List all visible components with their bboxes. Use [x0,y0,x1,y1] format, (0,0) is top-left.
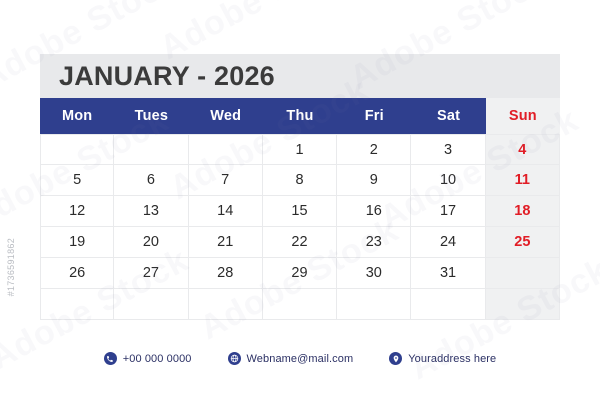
day-header-fri: Fri [337,98,411,134]
footer-contact-bar: +00 000 0000Webname@mail.comYouraddress … [40,352,560,365]
contact-text: Youraddress here [408,353,496,365]
date-cell[interactable]: 25 [486,227,560,258]
date-cell[interactable]: 22 [263,227,337,258]
contact-item-phone[interactable]: +00 000 0000 [104,352,192,365]
date-cell-empty[interactable] [114,134,188,165]
date-cell[interactable]: 9 [337,165,411,196]
location-pin-icon [389,352,402,365]
date-cell[interactable]: 4 [486,134,560,165]
day-header-sun: Sun [486,98,560,134]
calendar-grid: MonTuesWedThuFriSatSun123456789101112131… [40,98,560,320]
phone-icon [104,352,117,365]
contact-text: Webname@mail.com [247,353,354,365]
date-cell[interactable]: 24 [411,227,485,258]
watermark-asset-id: #1736591862 [6,238,16,296]
date-cell[interactable]: 14 [189,196,263,227]
date-cell[interactable]: 7 [189,165,263,196]
date-cell[interactable]: 5 [40,165,114,196]
date-cell[interactable]: 2 [337,134,411,165]
date-cell-empty[interactable] [337,289,411,320]
contact-text: +00 000 0000 [123,353,192,365]
date-cell[interactable]: 26 [40,258,114,289]
day-header-tues: Tues [114,98,188,134]
date-cell-empty[interactable] [40,289,114,320]
calendar-title-bar: JANUARY - 2026 [40,54,560,98]
date-cell[interactable]: 29 [263,258,337,289]
day-header-wed: Wed [189,98,263,134]
date-cell[interactable]: 10 [411,165,485,196]
date-cell[interactable]: 12 [40,196,114,227]
date-cell[interactable]: 17 [411,196,485,227]
calendar-card: JANUARY - 2026 MonTuesWedThuFriSatSun123… [40,54,560,320]
date-cell[interactable]: 30 [337,258,411,289]
date-cell[interactable]: 28 [189,258,263,289]
date-cell[interactable]: 3 [411,134,485,165]
date-cell[interactable]: 1 [263,134,337,165]
contact-item-location-pin[interactable]: Youraddress here [389,352,496,365]
day-header-thu: Thu [263,98,337,134]
date-cell[interactable]: 6 [114,165,188,196]
globe-icon [228,352,241,365]
date-cell[interactable]: 21 [189,227,263,258]
day-header-sat: Sat [411,98,485,134]
date-cell[interactable]: 18 [486,196,560,227]
date-cell[interactable]: 8 [263,165,337,196]
date-cell-empty[interactable] [40,134,114,165]
contact-item-globe[interactable]: Webname@mail.com [228,352,354,365]
date-cell-empty[interactable] [189,134,263,165]
date-cell-empty[interactable] [189,289,263,320]
date-cell[interactable]: 27 [114,258,188,289]
date-cell[interactable]: 16 [337,196,411,227]
date-cell-empty[interactable] [486,258,560,289]
date-cell-empty[interactable] [114,289,188,320]
date-cell[interactable]: 13 [114,196,188,227]
date-cell[interactable]: 15 [263,196,337,227]
date-cell[interactable]: 19 [40,227,114,258]
date-cell[interactable]: 20 [114,227,188,258]
date-cell[interactable]: 11 [486,165,560,196]
date-cell[interactable]: 23 [337,227,411,258]
date-cell-empty[interactable] [263,289,337,320]
date-cell[interactable]: 31 [411,258,485,289]
day-header-mon: Mon [40,98,114,134]
date-cell-empty[interactable] [486,289,560,320]
date-cell-empty[interactable] [411,289,485,320]
page-title: JANUARY - 2026 [59,63,275,90]
